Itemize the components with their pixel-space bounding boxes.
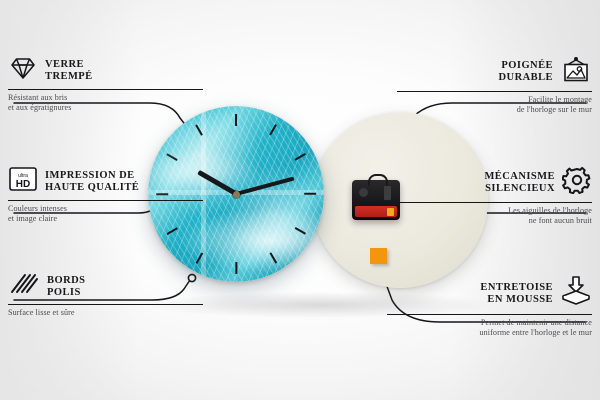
clock-mechanism bbox=[352, 180, 400, 220]
feature-title: MÉCANISME SILENCIEUX bbox=[484, 171, 555, 194]
feature-mecanisme-silencieux[interactable]: MÉCANISME SILENCIEUX Les aiguilles de l'… bbox=[397, 166, 592, 226]
feature-desc: Permet de maintenir une distance uniform… bbox=[387, 318, 592, 337]
feature-title: BORDS POLIS bbox=[47, 275, 85, 298]
feature-desc: Les aiguilles de l'horloge ne font aucun… bbox=[397, 206, 592, 225]
diamond-icon bbox=[8, 56, 38, 86]
feature-desc: Surface lisse et sûre bbox=[8, 308, 203, 318]
feature-verre-trempe[interactable]: VERRE TREMPÉ Résistant aux bris et aux é… bbox=[8, 56, 203, 113]
battery bbox=[355, 206, 397, 217]
feature-rule bbox=[8, 89, 203, 90]
feature-desc: Résistant aux bris et aux égratignures bbox=[8, 93, 203, 112]
feature-rule bbox=[8, 304, 203, 305]
ultra-hd-icon: ultra HD bbox=[8, 166, 38, 197]
infographic-canvas: VERRE TREMPÉ Résistant aux bris et aux é… bbox=[0, 0, 600, 400]
feature-title: IMPRESSION DE HAUTE QUALITÉ bbox=[45, 170, 139, 193]
feature-rule bbox=[8, 200, 203, 201]
picture-hanger-icon bbox=[560, 56, 592, 88]
feature-rule bbox=[397, 91, 592, 92]
feature-bords-polis[interactable]: BORDS POLIS Surface lisse et sûre bbox=[8, 272, 203, 318]
hanger-loop bbox=[368, 174, 388, 186]
feature-poignee-durable[interactable]: POIGNÉE DURABLE Facilite le montage de l… bbox=[397, 56, 592, 115]
foam-spacer-icon bbox=[560, 276, 592, 311]
feature-rule bbox=[387, 314, 592, 315]
feature-desc: Facilite le montage de l'horloge sur le … bbox=[397, 95, 592, 114]
feature-title: ENTRETOISE EN MOUSSE bbox=[480, 282, 553, 305]
feature-desc: Couleurs intenses et image claire bbox=[8, 204, 203, 223]
feature-title: VERRE TREMPÉ bbox=[45, 59, 93, 82]
svg-text:HD: HD bbox=[16, 179, 30, 190]
polished-edges-icon bbox=[8, 272, 40, 301]
feature-entretoise-en-mousse[interactable]: ENTRETOISE EN MOUSSE Permet de maintenir… bbox=[387, 276, 592, 338]
mechanism-screw bbox=[359, 188, 368, 197]
feature-impression-haute-qualite[interactable]: ultra HD IMPRESSION DE HAUTE QUALITÉ Cou… bbox=[8, 166, 203, 224]
feature-title: POIGNÉE DURABLE bbox=[499, 60, 554, 83]
gear-icon bbox=[562, 166, 592, 199]
feature-rule bbox=[397, 202, 592, 203]
foam-spacer-pad bbox=[370, 248, 387, 264]
mechanism-shaft bbox=[384, 186, 391, 200]
